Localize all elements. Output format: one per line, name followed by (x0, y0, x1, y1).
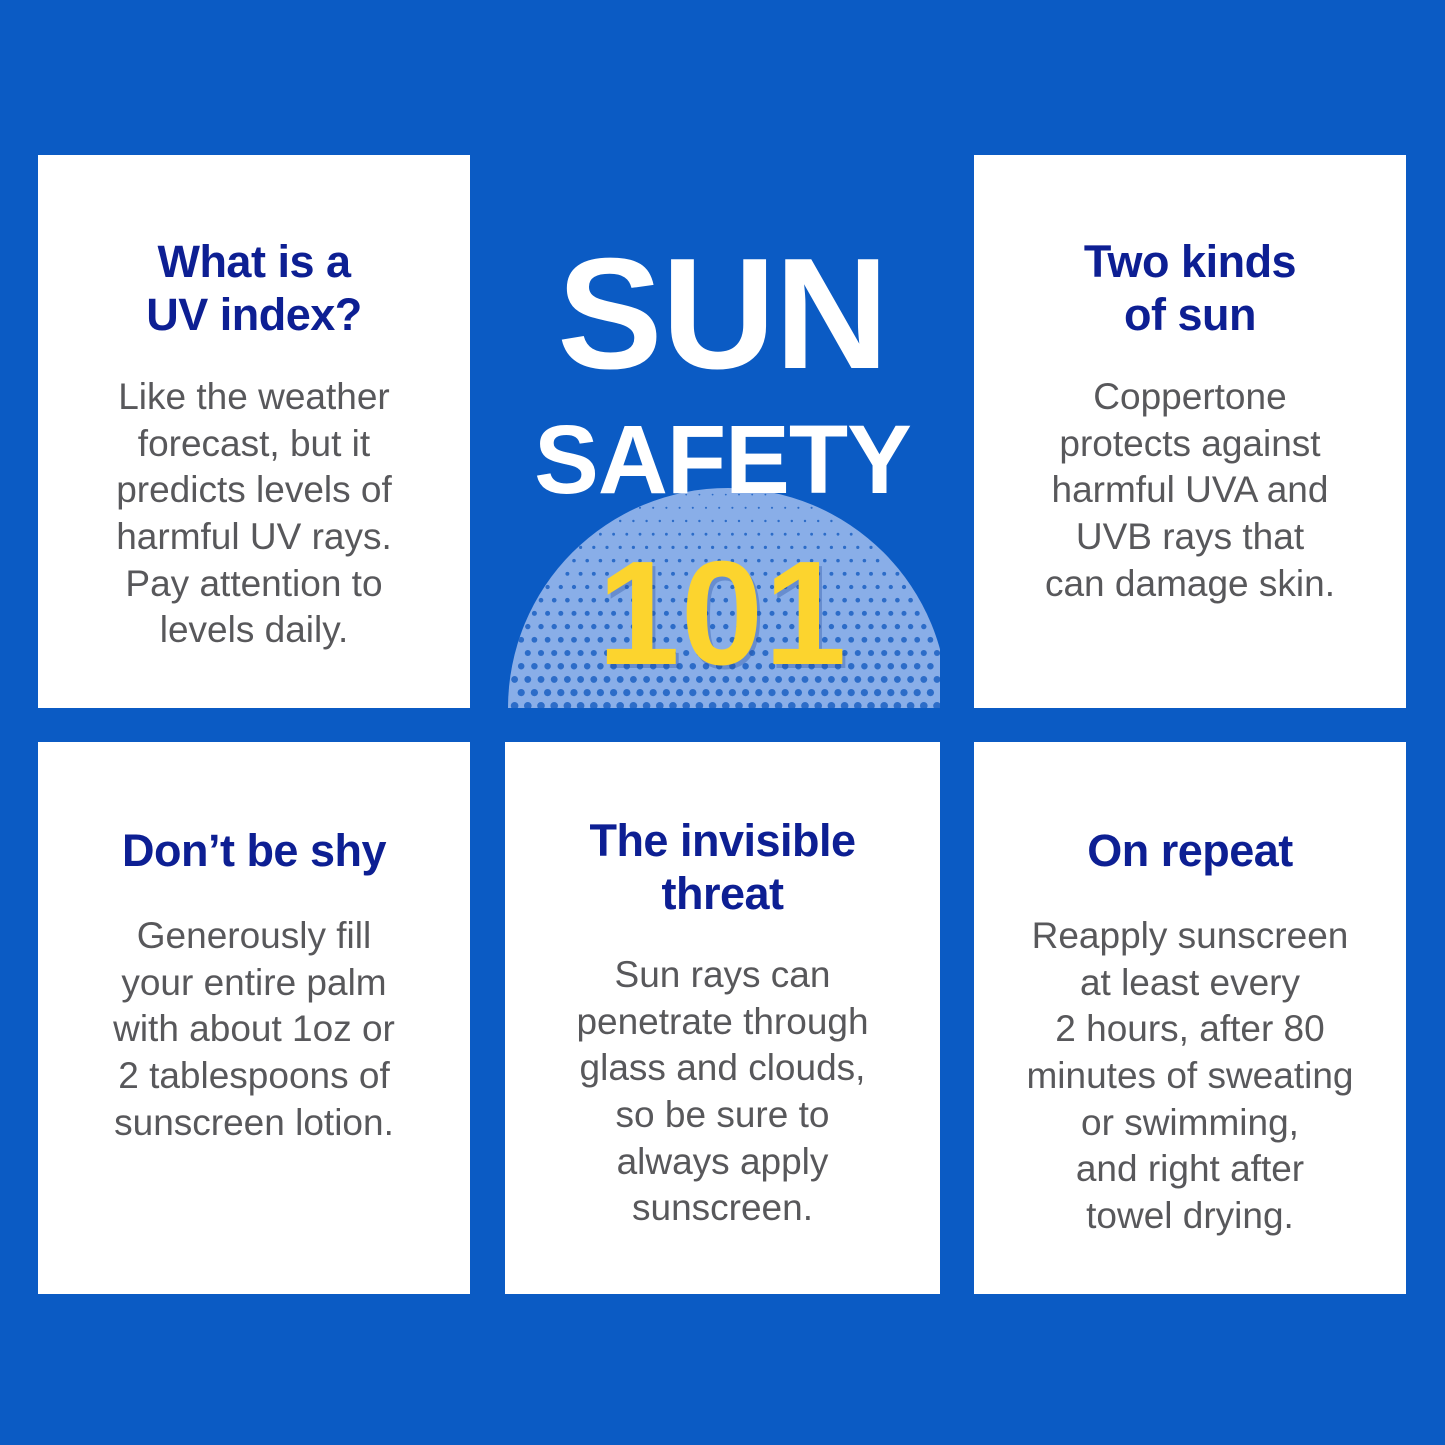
card-on-repeat: On repeat Reapply sunscreen at least eve… (974, 742, 1406, 1294)
card-invisible-threat-body: Sun rays can penetrate through glass and… (560, 952, 884, 1232)
sun-safety-infographic: What is a UV index? Like the weather for… (0, 0, 1445, 1445)
sun-safety-logo-block: SUN SAFETY 101 (505, 155, 940, 708)
card-uv-index-title: What is a UV index? (124, 235, 384, 341)
sun-safety-wordmark: SUN SAFETY (505, 155, 940, 508)
card-dont-be-shy-body: Generously fill your entire palm with ab… (97, 913, 411, 1146)
card-dont-be-shy-title: Don’t be shy (100, 824, 408, 877)
card-invisible-threat: The invisible threat Sun rays can penetr… (505, 742, 940, 1294)
card-two-kinds-title: Two kinds of sun (1062, 235, 1318, 341)
logo-line-sun: SUN (505, 235, 940, 393)
logo-line-safety: SAFETY (505, 411, 940, 508)
card-two-kinds-of-sun: Two kinds of sun Coppertone protects aga… (974, 155, 1406, 708)
card-two-kinds-body: Coppertone protects against harmful UVA … (1029, 374, 1351, 607)
card-on-repeat-body: Reapply sunscreen at least every 2 hours… (1010, 913, 1369, 1239)
card-uv-index: What is a UV index? Like the weather for… (38, 155, 470, 708)
card-invisible-threat-title: The invisible threat (567, 814, 877, 920)
card-dont-be-shy: Don’t be shy Generously fill your entire… (38, 742, 470, 1294)
card-on-repeat-title: On repeat (1065, 824, 1315, 877)
card-uv-index-body: Like the weather forecast, but it predic… (100, 374, 408, 654)
logo-badge-101: 101 (505, 540, 940, 688)
